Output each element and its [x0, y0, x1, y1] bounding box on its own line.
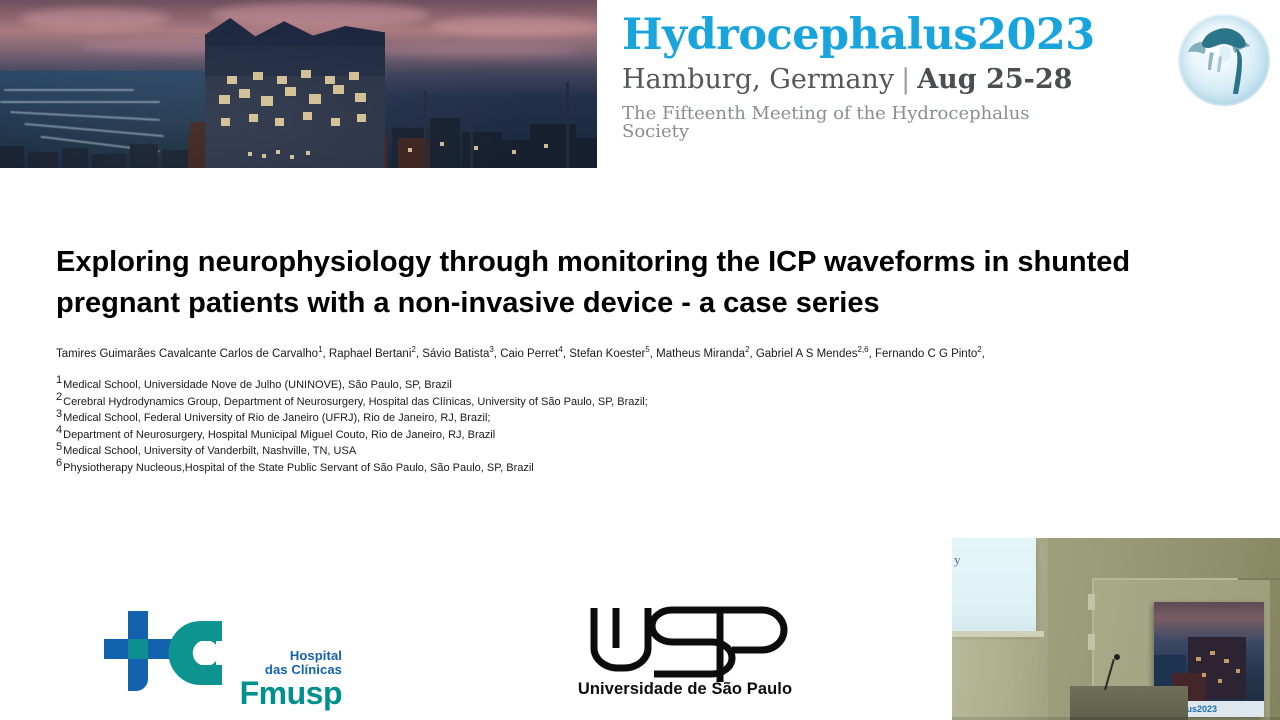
wall-rail [1238, 578, 1280, 580]
affiliation-number: 6 [56, 457, 62, 469]
usp-subtitle: Universidade de São Paulo [560, 680, 810, 699]
affiliation-text: Cerebral Hydrodynamics Group, Department… [63, 396, 648, 408]
hc-line-3: Fmusp [222, 678, 342, 708]
affiliation-number: 1 [56, 374, 62, 386]
door-hinge-upper [1088, 594, 1095, 610]
hospital-das-clinicas-logo: Hospital das Clínicas Fmusp [100, 605, 340, 713]
projection-screen: y [952, 538, 1036, 634]
affiliation-text: Medical School, Federal University of Ri… [63, 412, 490, 424]
slide-header: Hydrocephalus2023 Hamburg, Germany|Aug 2… [0, 0, 1280, 170]
affiliation-number: 4 [56, 424, 62, 436]
author-list: Tamires Guimarães Cavalcante Carlos de C… [56, 344, 1226, 363]
hamburg-skyline-banner-image [0, 0, 597, 168]
usp-wordmark-icon [560, 598, 810, 684]
usp-logo: Universidade de São Paulo [560, 598, 810, 704]
author-item: Stefan Koester5, [569, 348, 656, 360]
affiliation-item: 5Medical School, University of Vanderbil… [56, 444, 1156, 458]
author-item: Fernando C G Pinto2, [875, 348, 985, 360]
conference-location-dates: Hamburg, Germany|Aug 25-28 [622, 66, 1052, 93]
separator: | [894, 64, 917, 95]
title-line-2: pregnant patients with a non-invasive de… [56, 283, 1210, 324]
slide-title: Exploring neurophysiology through monito… [56, 242, 1210, 324]
presentation-slide: Hydrocephalus2023 Hamburg, Germany|Aug 2… [0, 0, 1280, 720]
conference-tagline: The Fifteenth Meeting of the Hydrocephal… [622, 105, 1052, 141]
author-item: Caio Perret4, [500, 348, 569, 360]
affiliation-item: 3Medical School, Federal University of R… [56, 411, 1156, 425]
author-item: Raphael Bertani2, [329, 348, 422, 360]
affiliation-number: 2 [56, 391, 62, 403]
webcam-video-inset[interactable]: y phalus2023 [952, 538, 1280, 720]
hc-monogram-icon [104, 607, 222, 699]
hydrocephalus-society-logo-icon [1176, 12, 1272, 108]
author-item: Tamires Guimarães Cavalcante Carlos de C… [56, 348, 329, 360]
author-item: Matheus Miranda2, [656, 348, 756, 360]
screen-frame [952, 631, 1044, 637]
affiliation-text: Medical School, University of Vanderbilt… [63, 445, 356, 457]
conference-logo-text: Hydrocephalus2023 Hamburg, Germany|Aug 2… [622, 14, 1052, 141]
affiliation-list: 1Medical School, Universidade Nove de Ju… [56, 378, 1156, 477]
affiliation-number: 5 [56, 441, 62, 453]
affiliation-item: 6Physiotherapy Nucleous,Hospital of the … [56, 461, 1156, 475]
affiliation-item: 1Medical School, Universidade Nove de Ju… [56, 378, 1156, 392]
conference-name: Hydrocephalus2023 [622, 14, 1052, 57]
affiliation-item: 4Department of Neurosurgery, Hospital Mu… [56, 428, 1156, 442]
microphone-head-icon [1114, 654, 1120, 660]
affiliation-item: 2Cerebral Hydrodynamics Group, Departmen… [56, 395, 1156, 409]
author-item: Gabriel A S Mendes2,6, [756, 348, 875, 360]
title-line-1: Exploring neurophysiology through monito… [56, 242, 1210, 283]
author-item: Sávio Batista3, [422, 348, 500, 360]
conference-location: Hamburg, Germany [622, 64, 894, 95]
hc-line-1: Hospital [222, 649, 342, 663]
door-hinge-lower [1088, 634, 1095, 650]
conference-dates: Aug 25-28 [917, 64, 1072, 95]
affiliation-number: 3 [56, 408, 62, 420]
hc-logo-text: Hospital das Clínicas Fmusp [222, 649, 342, 708]
lectern-podium [1070, 686, 1188, 720]
affiliation-text: Medical School, Universidade Nove de Jul… [63, 379, 452, 391]
affiliation-text: Physiotherapy Nucleous,Hospital of the S… [63, 462, 534, 474]
affiliation-text: Department of Neurosurgery, Hospital Mun… [63, 429, 495, 441]
projection-screen-text: y [954, 552, 961, 568]
